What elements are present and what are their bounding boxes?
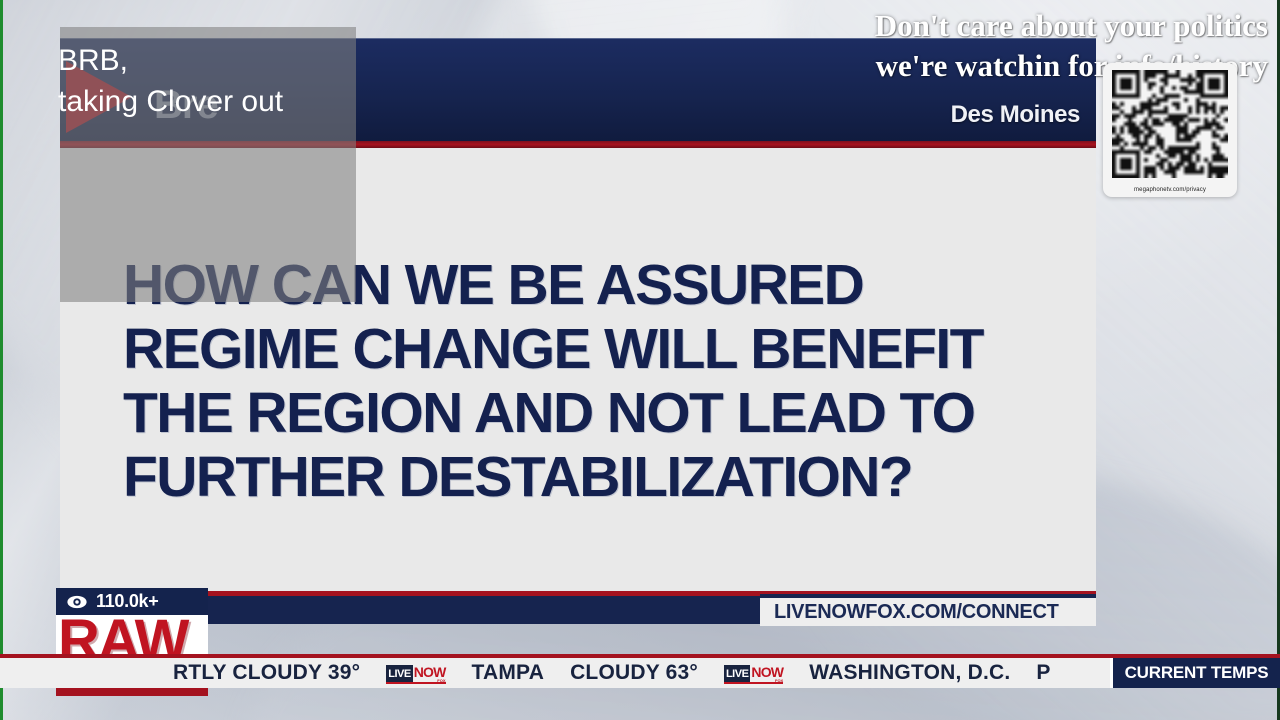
ticker-items: RTLY CLOUDY 39°LIVENOWFOXTAMPACLOUDY 63°… bbox=[173, 658, 1051, 688]
ticker-text: CLOUDY 63° bbox=[570, 661, 698, 685]
frame-edge-left bbox=[0, 0, 3, 720]
stream-brb-message: BRB, taking Clover out bbox=[58, 40, 478, 122]
viewer-count-bar: 110.0k+ bbox=[56, 588, 208, 615]
ticker-text: WASHINGTON, D.C. bbox=[809, 661, 1010, 685]
livenow-logo: LIVENOWFOX bbox=[724, 665, 783, 682]
connect-url-tab: LIVENOWFOX.COM/CONNECT bbox=[760, 594, 1096, 626]
connect-url-text: LIVENOWFOX.COM/CONNECT bbox=[774, 601, 1059, 624]
ticker-text: RTLY CLOUDY 39° bbox=[173, 661, 360, 685]
viewer-count-text: 110.0k+ bbox=[96, 591, 158, 612]
eye-icon bbox=[66, 595, 88, 609]
caption-line-1: Don't care about your politics bbox=[798, 6, 1268, 46]
livenow-logo: LIVENOWFOX bbox=[386, 665, 445, 682]
qr-code-card[interactable]: megaphonetv.com/privacy bbox=[1103, 63, 1237, 197]
livenow-fox-text: FOX bbox=[437, 672, 445, 689]
qr-code-image bbox=[1112, 70, 1228, 178]
ticker-text: TAMPA bbox=[472, 661, 545, 685]
city-label: Des Moines bbox=[951, 101, 1080, 129]
weather-ticker[interactable]: RTLY CLOUDY 39°LIVENOWFOXTAMPACLOUDY 63°… bbox=[0, 654, 1280, 688]
livenow-fox-text: FOX bbox=[775, 672, 783, 689]
broadcast-screenshot: Bre Des Moines HOW CAN WE BE ASSURED REG… bbox=[0, 0, 1280, 720]
ticker-text: P bbox=[1036, 661, 1050, 685]
qr-code-caption: megaphonetv.com/privacy bbox=[1103, 187, 1237, 193]
current-temps-tab: CURRENT TEMPS bbox=[1110, 658, 1280, 688]
